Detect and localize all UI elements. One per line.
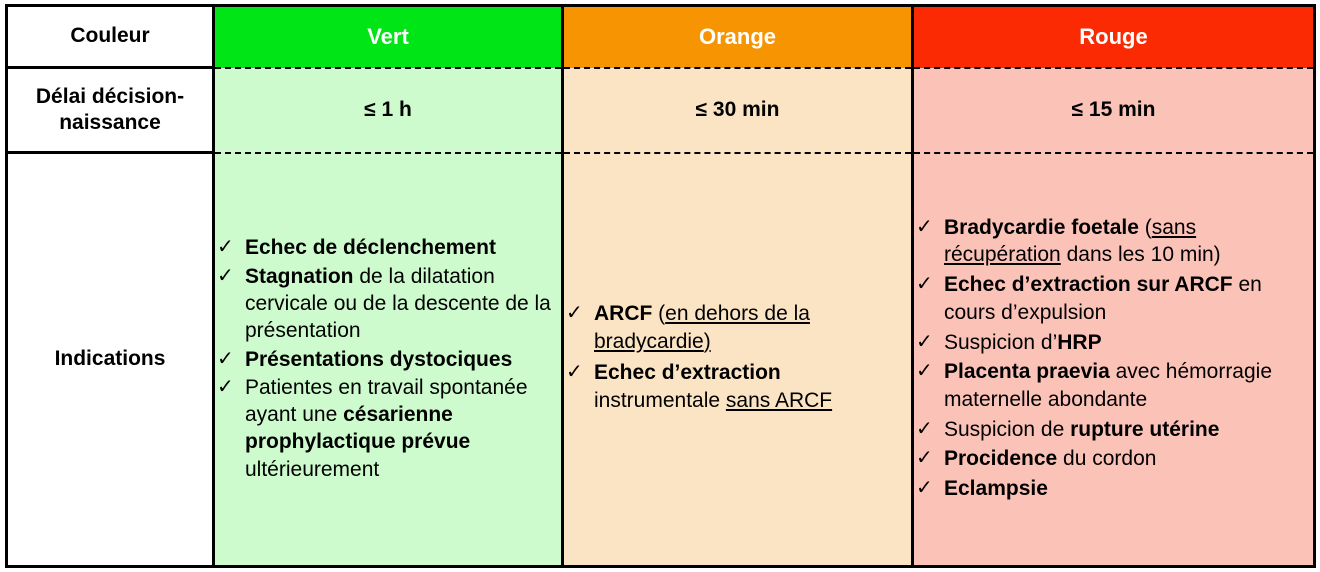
indication-text-run: Eclampsie [944, 477, 1048, 500]
row-label-delay-line1: Délai décision- [36, 85, 184, 108]
row-label-colour: Couleur [7, 6, 214, 68]
check-icon: ✓ [916, 416, 933, 442]
indication-item: ✓Echec d’extraction instrumentale sans A… [564, 359, 911, 414]
indication-item: ✓Echec de déclenchement [215, 234, 561, 261]
indication-text-run: Echec d’extraction [594, 361, 781, 384]
row-label-indications: Indications [7, 153, 214, 567]
check-icon: ✓ [916, 271, 933, 297]
check-icon: ✓ [217, 263, 234, 289]
delay-value-orange: ≤ 30 min [563, 68, 913, 153]
table-row-colour: Couleur Vert Orange Rouge [7, 6, 1315, 68]
column-header-vert: Vert [214, 6, 563, 68]
check-icon: ✓ [916, 445, 933, 471]
check-icon: ✓ [566, 300, 583, 326]
delay-value-rouge: ≤ 15 min [913, 68, 1315, 153]
indication-list-rouge: ✓Bradycardie foetale (sans récupération … [914, 214, 1313, 503]
indication-list-orange: ✓ARCF (en dehors de la bradycardie)✓Eche… [564, 300, 911, 415]
check-icon: ✓ [217, 346, 234, 372]
indication-list-vert: ✓Echec de déclenchement✓Stagnation de la… [215, 234, 561, 483]
indication-item: ✓Patientes en travail spontanée ayant un… [215, 374, 561, 483]
indication-item: ✓Bradycardie foetale (sans récupération … [914, 214, 1313, 269]
indications-cell-rouge: ✓Bradycardie foetale (sans récupération … [913, 153, 1315, 567]
triage-table-container: Couleur Vert Orange Rouge Délai décision… [5, 4, 1313, 568]
column-header-orange: Orange [563, 6, 913, 68]
delay-value-vert: ≤ 1 h [214, 68, 563, 153]
check-icon: ✓ [916, 358, 933, 384]
check-icon: ✓ [916, 475, 933, 501]
indication-text-run: ) [704, 330, 711, 353]
column-header-rouge: Rouge [913, 6, 1315, 68]
table-row-delay: Délai décision- naissance ≤ 1 h ≤ 30 min… [7, 68, 1315, 153]
row-label-delay: Délai décision- naissance [7, 68, 214, 153]
indication-item: ✓Procidence du cordon [914, 445, 1313, 473]
check-icon: ✓ [217, 374, 234, 400]
indication-item: ✓Placenta praevia avec hémorragie matern… [914, 358, 1313, 413]
indication-text-run: rupture utérine [1070, 418, 1219, 441]
indication-text-run: HRP [1057, 331, 1101, 354]
indications-cell-vert: ✓Echec de déclenchement✓Stagnation de la… [214, 153, 563, 567]
indication-item: ✓Suspicion d’HRP [914, 329, 1313, 357]
indication-item: ✓ARCF (en dehors de la bradycardie) [564, 300, 911, 355]
indication-text-run: Présentations dystociques [245, 348, 512, 371]
check-icon: ✓ [916, 329, 933, 355]
indication-text-run: ARCF [594, 302, 652, 325]
indication-text-run: Procidence [944, 447, 1057, 470]
check-icon: ✓ [916, 214, 933, 240]
indication-text-run: Bradycardie foetale [944, 216, 1139, 239]
indication-item: ✓Echec d’extraction sur ARCF en cours d’… [914, 271, 1313, 326]
indication-text-run: Echec d’extraction sur ARCF [944, 273, 1233, 296]
row-label-delay-line2: naissance [59, 111, 161, 134]
indication-item: ✓Stagnation de la dilatation cervicale o… [215, 263, 561, 345]
indication-item: ✓Suspicion de rupture utérine [914, 416, 1313, 444]
check-icon: ✓ [217, 234, 234, 260]
indication-text-run: Echec de déclenchement [245, 236, 496, 259]
indication-item: ✓Présentations dystociques [215, 346, 561, 373]
check-icon: ✓ [566, 359, 583, 385]
triage-table: Couleur Vert Orange Rouge Délai décision… [5, 4, 1316, 568]
indication-text-run: césarienne prophylactique prévue [245, 403, 470, 453]
indication-text-run: Stagnation [245, 265, 354, 288]
indication-item: ✓Eclampsie [914, 475, 1313, 503]
indications-cell-orange: ✓ARCF (en dehors de la bradycardie)✓Eche… [563, 153, 913, 567]
table-row-indications: Indications ✓Echec de déclenchement✓Stag… [7, 153, 1315, 567]
indication-text-run: Placenta praevia [944, 360, 1110, 383]
indication-text-run: sans ARCF [726, 389, 832, 412]
